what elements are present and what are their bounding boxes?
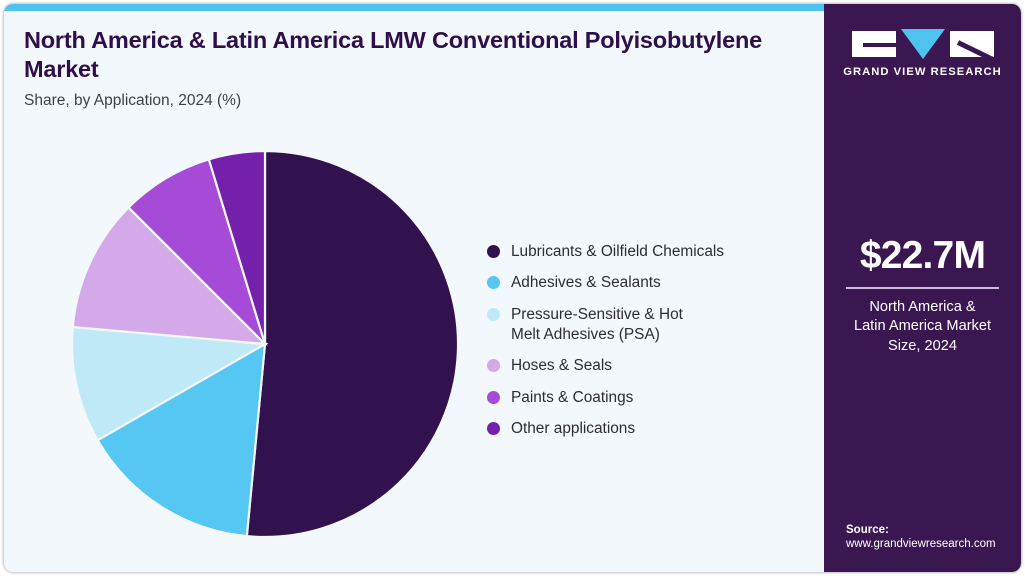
legend-item[interactable]: Pressure-Sensitive & Hot Melt Adhesives … [487,305,807,346]
legend-item[interactable]: Lubricants & Oilfield Chemicals [487,242,807,262]
sidebar-panel: GRAND VIEW RESEARCH $22.7M North America… [824,4,1021,572]
legend-label: Paints & Coatings [511,388,633,408]
legend-swatch-icon [487,308,500,321]
source-label: Source: [846,524,1016,536]
chart-legend: Lubricants & Oilfield ChemicalsAdhesives… [487,242,807,450]
legend-label: Lubricants & Oilfield Chemicals [511,242,724,262]
logo-marks [824,30,1021,58]
legend-label: Hoses & Seals [511,356,612,376]
logo-wordmark: GRAND VIEW RESEARCH [824,66,1021,78]
market-size-stat: $22.7M North America & Latin America Mar… [824,236,1021,356]
legend-item[interactable]: Hoses & Seals [487,356,807,376]
legend-item[interactable]: Other applications [487,419,807,439]
brand-logo: GRAND VIEW RESEARCH [824,30,1021,78]
stat-caption: North America & Latin America Market Siz… [824,298,1021,356]
pie-chart-svg [70,149,460,539]
source-url: www.grandviewresearch.com [846,538,1016,550]
legend-swatch-icon [487,359,500,372]
pie-chart [70,149,460,539]
legend-swatch-icon [487,276,500,289]
logo-v-triangle-icon [901,29,945,59]
legend-swatch-icon [487,391,500,404]
legend-label: Adhesives & Sealants [511,273,661,293]
chart-card: North America & Latin America LMW Conven… [4,4,1021,572]
page-subtitle: Share, by Application, 2024 (%) [24,92,784,110]
chart-header: North America & Latin America LMW Conven… [24,26,784,110]
pie-slice[interactable] [247,151,458,537]
pie-slice-group [72,151,458,537]
stat-value: $22.7M [824,236,1021,277]
legend-item[interactable]: Paints & Coatings [487,388,807,408]
infographic-root: North America & Latin America LMW Conven… [0,0,1025,576]
legend-swatch-icon [487,245,500,258]
stat-divider [846,287,999,289]
logo-r-icon [950,31,994,57]
legend-item[interactable]: Adhesives & Sealants [487,273,807,293]
legend-label: Other applications [511,419,635,439]
page-title: North America & Latin America LMW Conven… [24,26,784,85]
legend-label: Pressure-Sensitive & Hot Melt Adhesives … [511,305,683,346]
source-block: Source: www.grandviewresearch.com [846,524,1016,550]
legend-swatch-icon [487,422,500,435]
logo-g-icon [852,31,896,57]
